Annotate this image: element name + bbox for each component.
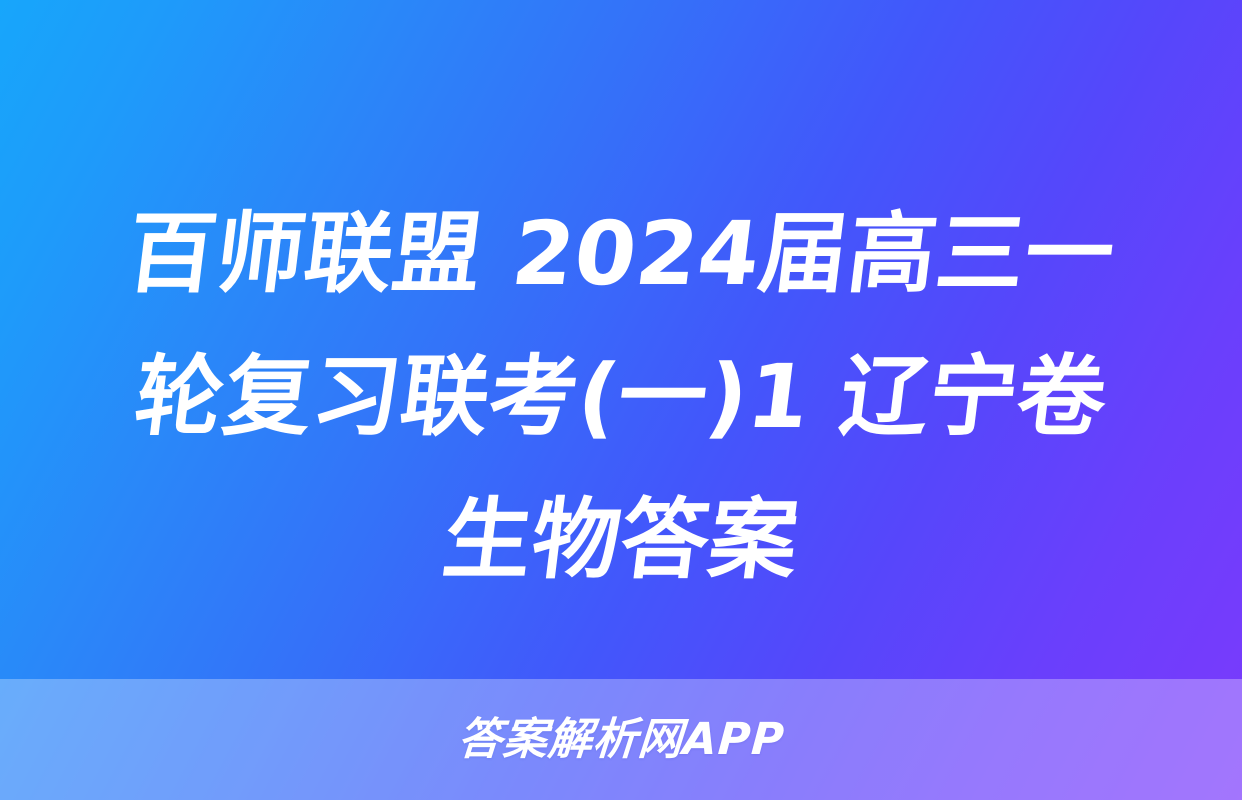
headline-line-3: 生物答案 bbox=[15, 468, 1227, 611]
headline-line-1: 百师联盟 2024届高三一 bbox=[15, 182, 1227, 325]
headline-line-2: 轮复习联考(一)1 辽宁卷 bbox=[15, 325, 1227, 468]
watermark-band: 答案解析网APP bbox=[0, 679, 1242, 800]
poster-canvas: 百师联盟 2024届高三一 轮复习联考(一)1 辽宁卷 生物答案 答案解析网AP… bbox=[0, 0, 1242, 800]
watermark-app-label: 答案解析网APP bbox=[456, 718, 786, 762]
poster-headline: 百师联盟 2024届高三一 轮复习联考(一)1 辽宁卷 生物答案 bbox=[0, 182, 1242, 622]
